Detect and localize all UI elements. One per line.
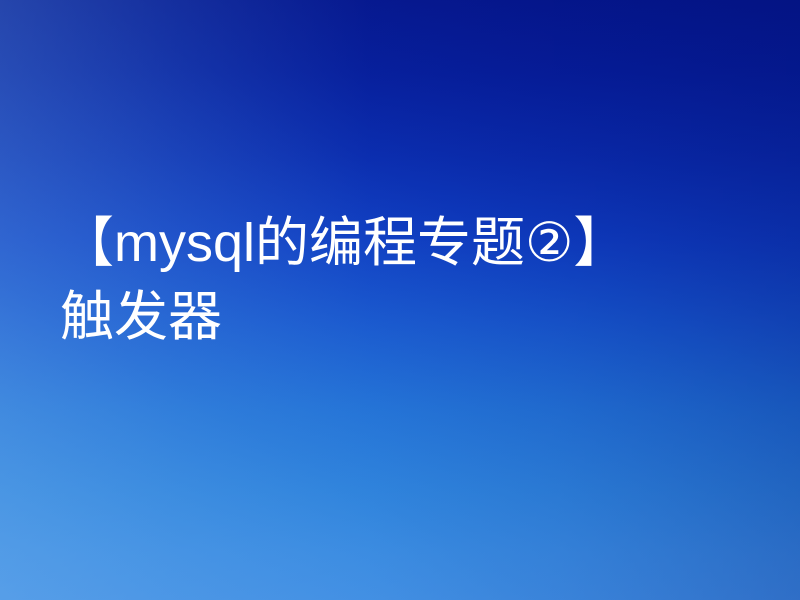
- title-slide: 【mysql的编程专题②】 触发器: [0, 0, 800, 600]
- page-title: 【mysql的编程专题②】 触发器: [60, 206, 720, 354]
- title-line-1: 【mysql的编程专题②】: [60, 206, 720, 280]
- title-line-2: 触发器: [60, 280, 720, 354]
